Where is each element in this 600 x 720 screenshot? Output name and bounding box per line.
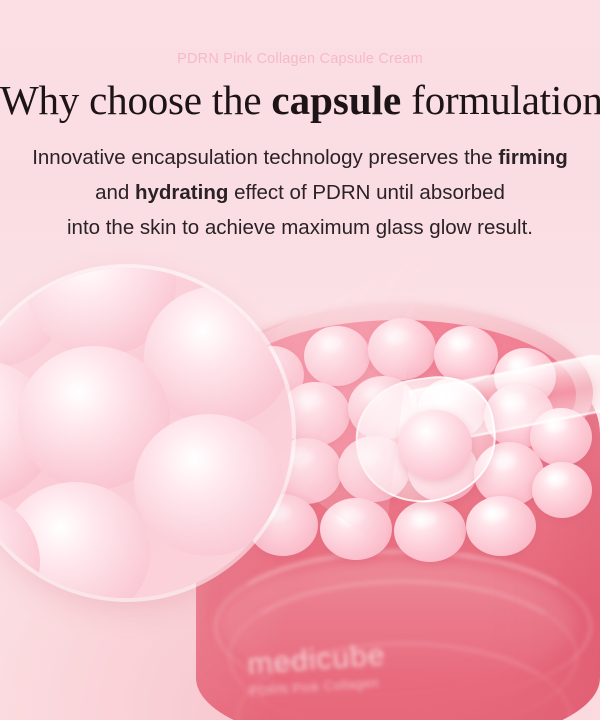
description-line-2: and hydrating effect of PDRN until absor… — [0, 175, 600, 210]
product-eyebrow-label: PDRN Pink Collagen Capsule Cream — [0, 51, 600, 67]
magnified-capsule — [134, 414, 284, 556]
capsule — [466, 496, 536, 556]
headline-text-before: Why choose the — [0, 77, 271, 123]
capsule — [532, 462, 592, 518]
capsule — [394, 500, 466, 562]
description-line-1-text: Innovative encapsulation technology pres… — [32, 146, 498, 169]
product-photograph: medicube PDRN Pink Collagen — [0, 250, 600, 720]
headline-emphasis-capsule: capsule — [271, 77, 401, 123]
description-paragraph: Innovative encapsulation technology pres… — [0, 140, 600, 245]
page-title: Why choose the capsule formulation — [0, 79, 600, 122]
capsule-on-spatula — [398, 410, 472, 480]
description-line-3: into the skin to achieve maximum glass g… — [0, 210, 600, 245]
headline-text-after: formulation — [401, 77, 600, 123]
description-emphasis-firming: firming — [498, 146, 567, 169]
description-line-2-suffix: effect of PDRN until absorbed — [228, 181, 505, 204]
description-emphasis-hydrating: hydrating — [135, 181, 228, 204]
description-line-2-prefix: and — [95, 181, 135, 204]
description-line-1: Innovative encapsulation technology pres… — [0, 140, 600, 175]
product-promo-banner: PDRN Pink Collagen Capsule Cream Why cho… — [0, 0, 600, 720]
